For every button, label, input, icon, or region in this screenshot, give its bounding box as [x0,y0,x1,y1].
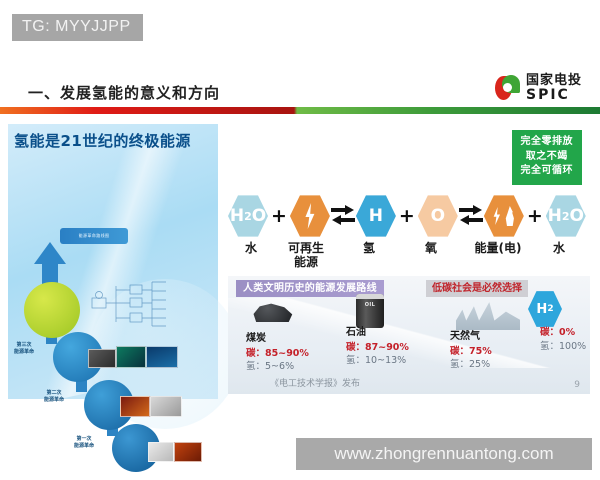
fuel-stat-natural-gas: 天然气 碳：75% 氢：25% [450,330,492,372]
page-number: 9 [574,380,580,390]
label-water-right: 水 [534,242,584,272]
revolution-label-third: 第三次能源革命 [14,342,34,356]
carbon-label: 碳： [450,346,469,357]
lightning-bolt-icon [303,203,317,229]
spic-logo-icon [495,75,521,101]
label-energy-electric: 能量(电) [462,242,534,272]
hex-water-left: H2O [228,194,268,238]
fuel-name: 天然气 [450,330,492,345]
spic-logo: 国家电投 SPIC [495,74,582,102]
equilibrium-arrows-icon [331,205,355,227]
carbon-value: 75% [469,346,492,357]
carbon-value: 85~90% [265,348,309,359]
thumbnail-image [150,396,182,417]
title-divider-bar [0,107,600,114]
benefit-line-3: 完全可循环 [521,164,574,179]
hex-oxygen: O [418,194,458,238]
carbon-label: 碳： [346,342,365,353]
flame-icon [504,206,516,226]
thumbnail-image [120,396,150,417]
logo-company-en: SPIC [526,88,582,102]
energy-history-panel: 人类文明历史的能源发展路线 低碳社会是必然选择 OIL H2 煤炭 碳：85~9… [228,276,590,394]
benefit-line-1: 完全零排放 [521,135,574,150]
thumbnail-image [174,442,202,462]
thumbnail-image [116,346,146,368]
fuel-name: 石油 [346,326,409,341]
plus-sign: + [271,205,287,227]
hex-energy-electric [484,194,524,238]
energy-revolution-panel: 能源革命路线图 第三次能源革命 第二次能源革命 第一次能源革命 [8,124,218,399]
label-water-left: 水 [228,242,274,272]
hydrogen-label: 氢： [246,361,265,372]
roadmap-chip-label: 能源革命路线图 [60,228,128,244]
hex-hydrogen: H [356,194,396,238]
thumbnail-image [148,442,174,462]
carbon-value: 0% [559,327,575,338]
panel-headline: 氢能是21世纪的终极能源 [14,130,191,151]
slide-canvas: 一、发展氢能的意义和方向 国家电投 SPIC 能源革命路线图 [0,60,600,410]
oil-barrel-image: OIL [356,294,384,328]
upward-arrow-icon [34,242,66,264]
low-carbon-bar: 低碳社会是必然选择 [426,280,528,297]
label-oxygen: 氧 [400,242,462,272]
hex-renewable-energy [290,194,330,238]
carbon-value: 87~90% [365,342,409,353]
hydrogen-value: 10~13% [365,355,406,366]
hydrogen-label: 氢： [540,341,559,352]
lightning-bolt-icon [492,207,502,225]
hex-water-right: H2O [546,194,586,238]
logo-company-cn: 国家电投 [526,74,582,87]
green-benefits-badge: 完全零排放 取之不竭 完全可循环 [512,130,583,185]
revolution-label-second: 第二次能源革命 [44,390,64,404]
hydrogen-value: 100% [559,341,586,352]
thumbnail-image [88,349,116,368]
hydrogen-value: 25% [469,359,490,370]
plus-sign: + [527,205,543,227]
page-title: 一、发展氢能的意义和方向 [28,82,220,103]
equilibrium-arrows-icon [459,205,483,227]
hydrogen-label: 氢： [346,355,365,366]
revolution-node-future [24,282,80,338]
carbon-label: 碳： [540,327,559,338]
thumbnail-image [146,346,178,368]
fuel-stat-hydrogen: 碳：0% 氢：100% [540,326,586,354]
label-renewable-energy: 可再生能源 [274,242,338,272]
source-credit: 《电工技术学报》发布 [270,376,360,389]
process-diagram [90,276,188,332]
revolution-label-first: 第一次能源革命 [74,436,94,450]
bottom-watermark: www.zhongrennuantong.com [296,438,592,470]
label-hydrogen: 氢 [338,242,400,272]
hydrogen-reaction-row: H2O + H + O + H2O [228,190,590,242]
reaction-labels-row: 水 可再生能源 氢 氧 能量(电) 水 [228,242,590,272]
top-watermark: TG: MYYJJPP [12,14,143,41]
benefit-line-2: 取之不竭 [521,150,574,165]
fuel-name: 煤炭 [246,332,309,347]
carbon-label: 碳： [246,348,265,359]
plus-sign: + [399,205,415,227]
fuel-stat-coal: 煤炭 碳：85~90% 氢：5~6% [246,332,309,374]
fuel-stat-oil: 石油 碳：87~90% 氢：10~13% [346,326,409,368]
hydrogen-value: 5~6% [265,361,294,372]
roadmap-chip: 能源革命路线图 [60,228,128,244]
hydrogen-label: 氢： [450,359,469,370]
